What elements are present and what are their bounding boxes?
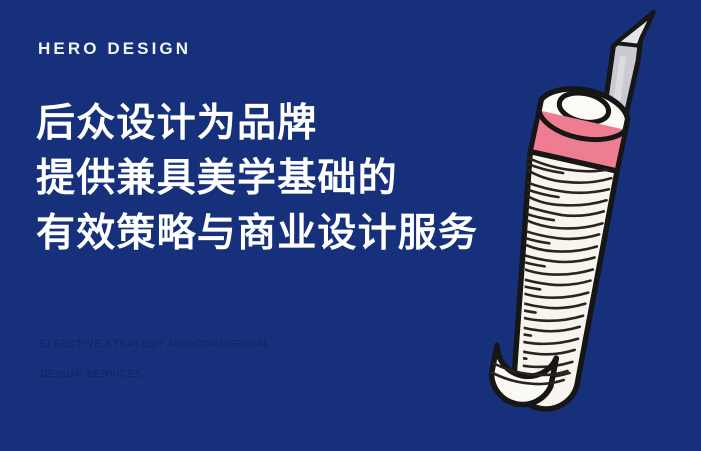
subtitle-block: EFFECTIVE STRATEGY AND COMMERCIAL DESIGN… [40,330,370,390]
blade-icon [602,12,655,119]
poster-canvas: HERO DESIGN 后众设计为品牌 提供兼具美学基础的 有效策略与商业设计服… [0,0,701,451]
brand-wordmark: HERO DESIGN [38,38,191,60]
headline-line-2: 提供兼具美学基础的 [36,151,556,206]
subtitle-line-2: DESIGN SERVICES [40,360,370,390]
subtitle-line-1: EFFECTIVE STRATEGY AND COMMERCIAL [40,330,370,360]
headline-line-1: 后众设计为品牌 [36,96,556,151]
headline-block: 后众设计为品牌 提供兼具美学基础的 有效策略与商业设计服务 [36,96,556,261]
headline-line-3: 有效策略与商业设计服务 [36,206,556,261]
rounded-tip [491,344,568,405]
